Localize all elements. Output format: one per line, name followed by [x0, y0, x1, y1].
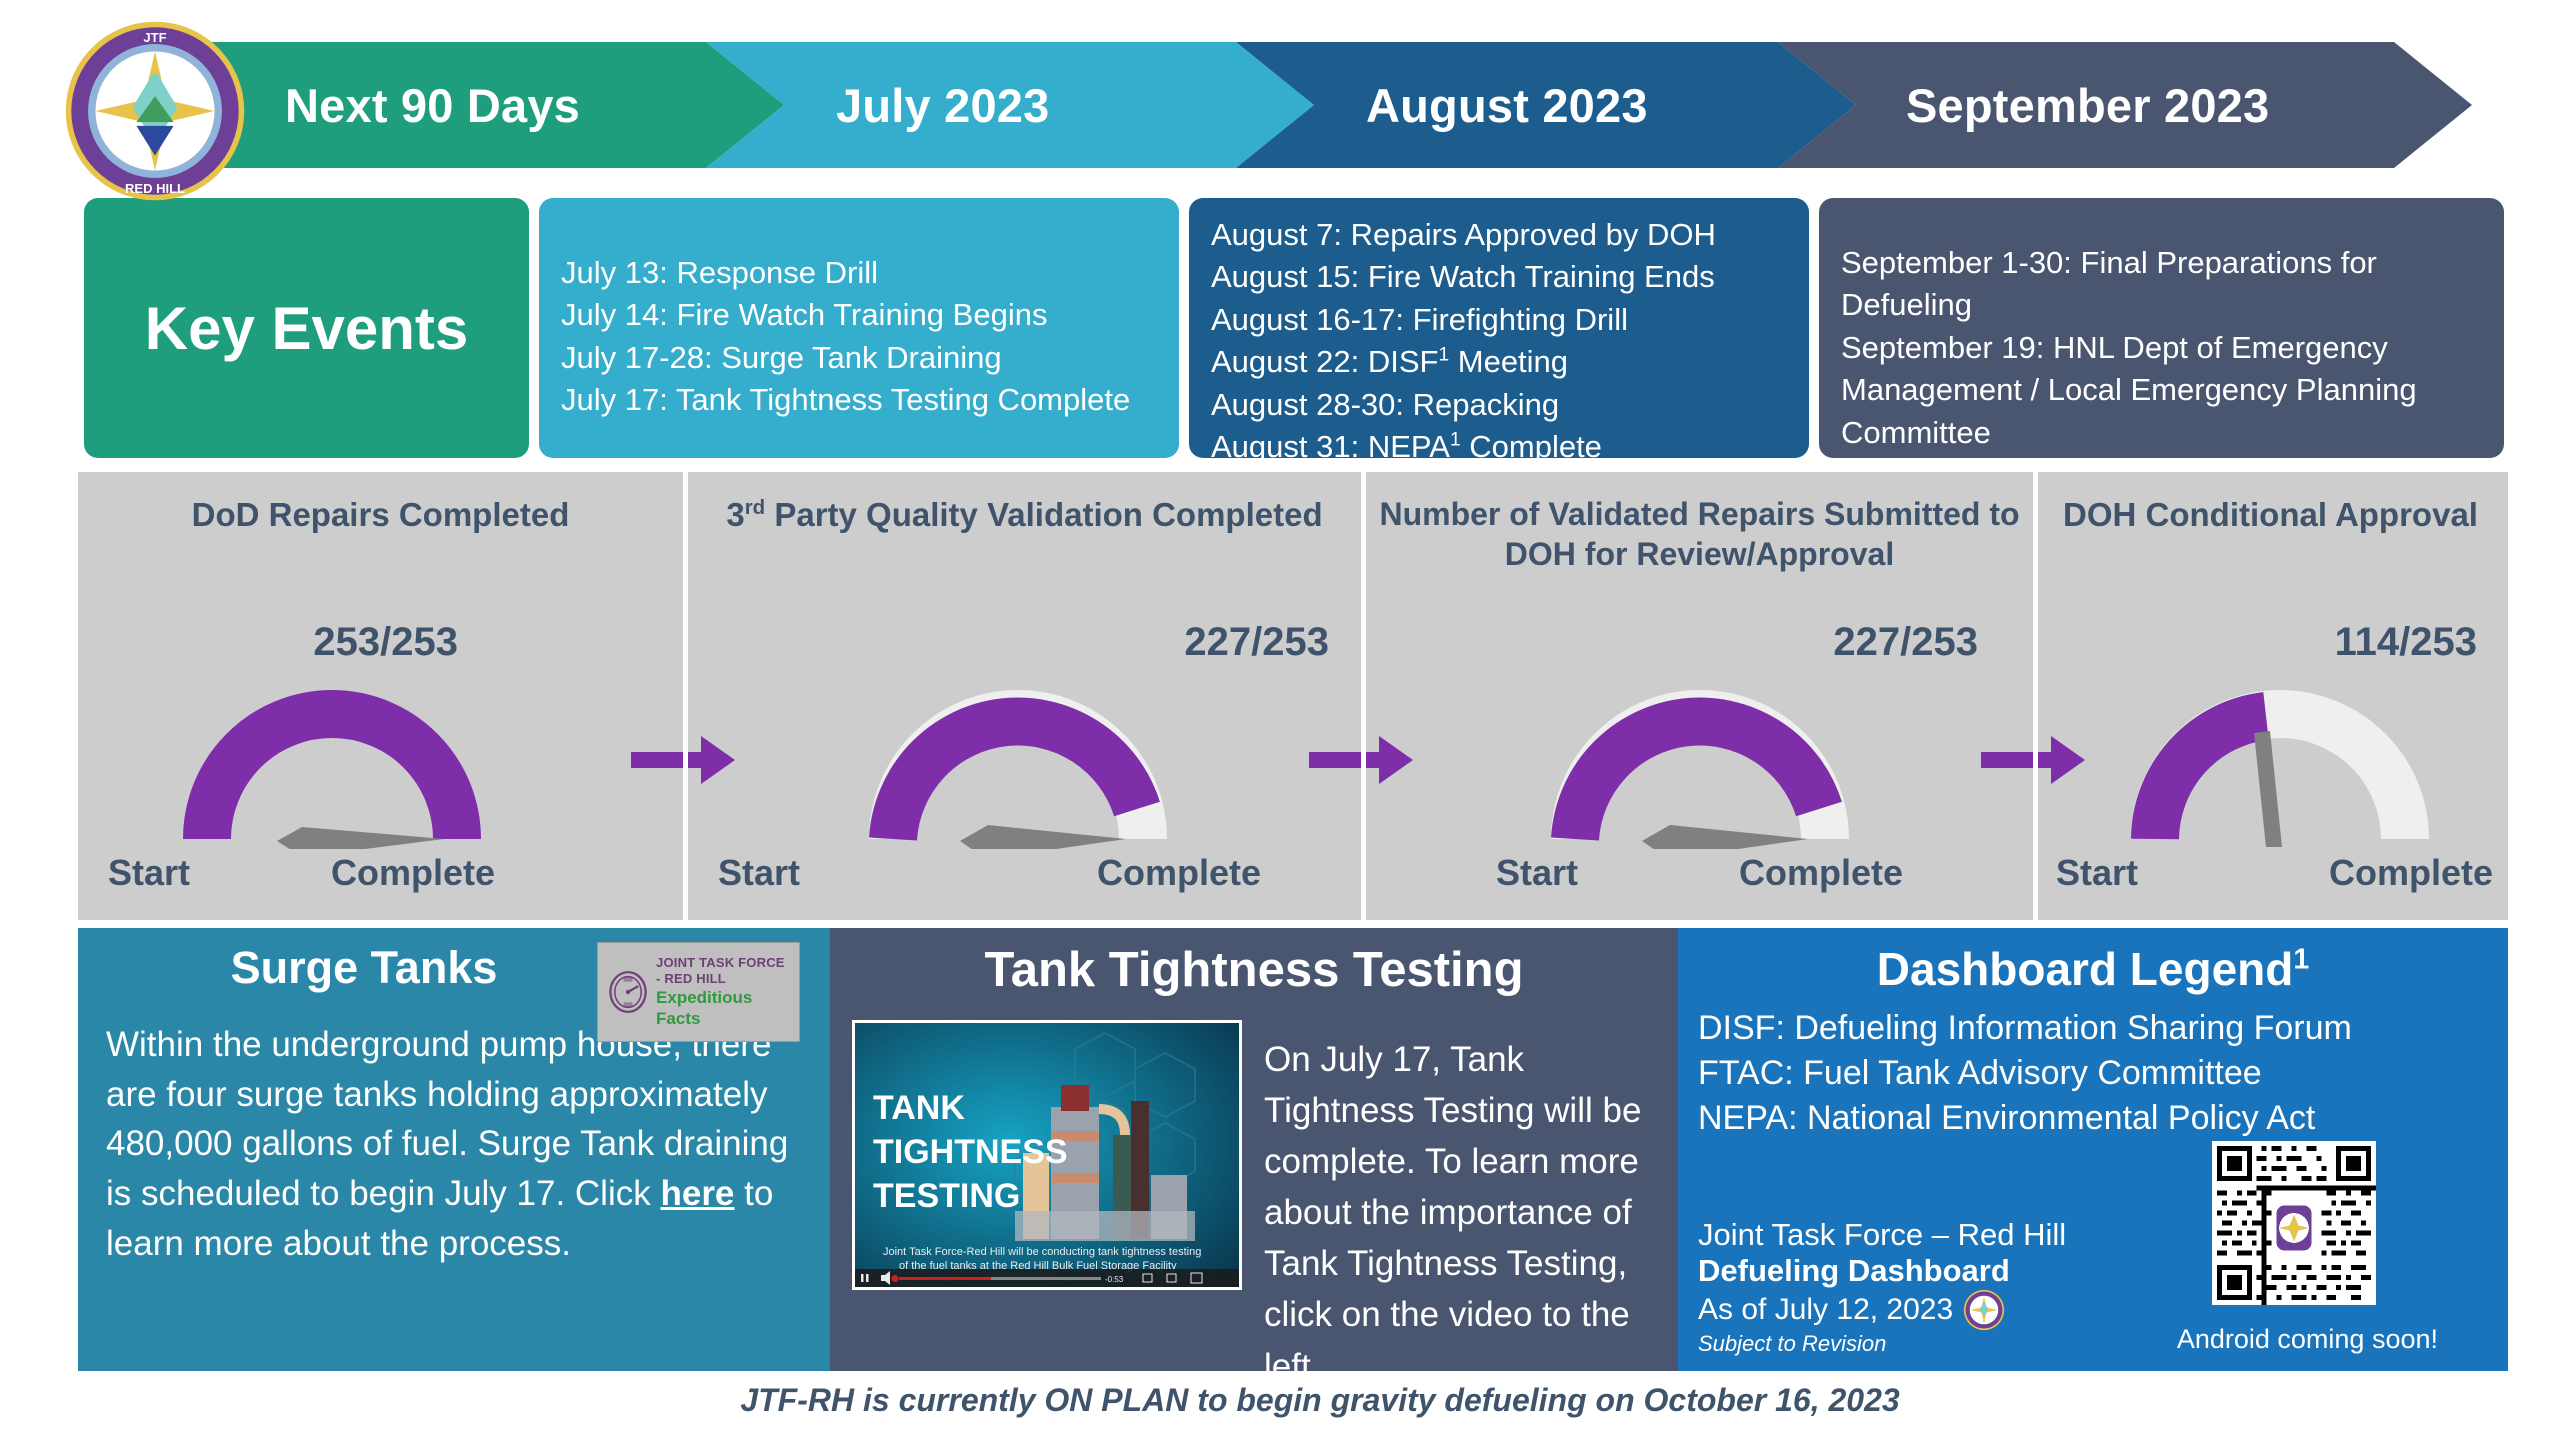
- svg-text:JTF: JTF: [143, 30, 166, 45]
- qr-label: Android coming soon!: [2177, 1324, 2438, 1355]
- list-item: NEPA: National Environmental Policy Act: [1698, 1096, 2508, 1141]
- footer-text: JTF-RH is currently ON PLAN to begin gra…: [660, 1382, 1899, 1418]
- gauge-card-dod-repairs: DoD Repairs Completed 253/253 Start Comp…: [78, 472, 683, 920]
- footer-status: JTF-RH is currently ON PLAN to begin gra…: [0, 1382, 2560, 1419]
- panel-title: Tank Tightness Testing: [830, 928, 1678, 998]
- list-item: DISF: Defueling Information Sharing Foru…: [1698, 1006, 2508, 1051]
- gauge-dial: [868, 689, 1168, 854]
- key-events-august-card: August 7: Repairs Approved by DOH August…: [1189, 198, 1809, 458]
- gauge-start-label: Start: [2056, 852, 2138, 894]
- bottom-panels: Surge Tanks JOINT TASK FORCE - RED HILL …: [78, 928, 2508, 1371]
- list-item: August 28-30: Repacking: [1211, 384, 1787, 426]
- list-item: July 17: Tank Tightness Testing Complete: [561, 379, 1157, 421]
- legend-title-superscript: 1: [2293, 944, 2309, 976]
- svg-text:TANK: TANK: [873, 1089, 965, 1127]
- legend-entries: DISF: Defueling Information Sharing Foru…: [1678, 996, 2508, 1142]
- surge-here-link[interactable]: here: [660, 1174, 734, 1213]
- timeline-chevron-august: August 2023: [1236, 42, 1856, 168]
- gauge-card-submitted-to-doh: Number of Validated Repairs Submitted to…: [1361, 472, 2033, 920]
- timeline-chevron-july: July 2023: [706, 42, 1314, 168]
- key-events-july-card: July 13: Response Drill July 14: Fire Wa…: [539, 198, 1179, 458]
- list-item: FTAC: Fuel Tank Advisory Committee: [1698, 1051, 2508, 1096]
- gauge-dial: [2130, 689, 2430, 854]
- legend-footer: Joint Task Force – Red Hill Defueling Da…: [1698, 1217, 2066, 1357]
- gauge-dial: [1550, 689, 1850, 854]
- jtf-seal-small-icon: [1963, 1289, 2005, 1331]
- gauge-title: DoD Repairs Completed: [78, 494, 683, 535]
- surge-tanks-panel: Surge Tanks JOINT TASK FORCE - RED HILL …: [78, 928, 830, 1371]
- key-events-september-card: September 1-30: Final Preparations for D…: [1819, 198, 2504, 458]
- list-item: July 17-28: Surge Tank Draining: [561, 337, 1157, 379]
- legend-as-of-row: As of July 12, 2023: [1698, 1289, 2066, 1331]
- svg-text:TIGHTNESS: TIGHTNESS: [873, 1133, 1068, 1171]
- badge-line-2: Expeditious Facts: [656, 987, 791, 1030]
- badge-line-1: JOINT TASK FORCE - RED HILL: [656, 955, 791, 988]
- gauge-card-doh-conditional-approval: DOH Conditional Approval 114/253 Start C…: [2033, 472, 2503, 920]
- expeditious-facts-badge: JOINT TASK FORCE - RED HILL Expeditious …: [597, 942, 800, 1042]
- svg-text:-0:53: -0:53: [1105, 1275, 1124, 1284]
- list-item: September 1-30: Final Preparations for D…: [1841, 242, 2482, 327]
- video-thumbnail[interactable]: TANK TIGHTNESS TESTING Joint Task Force-…: [852, 1020, 1242, 1290]
- timeline-header: Next 90 Days July 2023 August 2023 Septe…: [150, 42, 2550, 168]
- key-events-july-list: July 13: Response Drill July 14: Fire Wa…: [539, 198, 1179, 422]
- gauge-complete-label: Complete: [331, 852, 495, 894]
- gauge-row: DoD Repairs Completed 253/253 Start Comp…: [78, 472, 2508, 920]
- gauge-badge-icon: [606, 959, 650, 1025]
- gauge-complete-label: Complete: [2329, 852, 2493, 894]
- gauge-complete-label: Complete: [1097, 852, 1261, 894]
- list-item: July 14: Fire Watch Training Begins: [561, 294, 1157, 336]
- gauge-title: 3rd Party Quality Validation Completed: [688, 494, 1361, 535]
- gauge-start-label: Start: [718, 852, 800, 894]
- gauge-dial: [182, 689, 482, 854]
- legend-org: Joint Task Force – Red Hill: [1698, 1217, 2066, 1253]
- key-events-row: Key Events July 13: Response Drill July …: [84, 198, 2504, 458]
- gauge-value: 227/253: [1833, 620, 1978, 665]
- svg-text:TESTING: TESTING: [873, 1177, 1020, 1215]
- list-item: September 19: HNL Dept of Emergency Mana…: [1841, 327, 2482, 454]
- svg-text:RED HILL: RED HILL: [125, 181, 185, 196]
- tank-tightness-testing-panel: Tank Tightness Testing: [830, 928, 1678, 1371]
- ttt-body: On July 17, Tank Tightness Testing will …: [1264, 1020, 1656, 1392]
- list-item: August 15: Fire Watch Training Ends: [1211, 256, 1787, 298]
- legend-revision-note: Subject to Revision: [1698, 1331, 2066, 1357]
- gauge-value: 114/253: [2335, 620, 2477, 665]
- gauge-start-label: Start: [1496, 852, 1578, 894]
- key-events-label: Key Events: [84, 198, 529, 458]
- key-events-label-text: Key Events: [145, 294, 469, 363]
- gauge-value: 227/253: [1184, 620, 1329, 665]
- legend-dashboard-name: Defueling Dashboard: [1698, 1253, 2066, 1289]
- dashboard-page: JTF RED HILL Next 90 Days July 2023 Augu…: [0, 0, 2560, 1440]
- panel-title: Dashboard Legend1: [1678, 928, 2508, 996]
- qr-code[interactable]: [2212, 1141, 2376, 1305]
- list-item: August 22: DISF1 Meeting: [1211, 341, 1787, 383]
- gauge-title: DOH Conditional Approval: [2038, 494, 2503, 535]
- legend-as-of: As of July 12, 2023: [1698, 1293, 1953, 1327]
- timeline-chevron-september: September 2023: [1778, 42, 2472, 168]
- list-item: August 16-17: Firefighting Drill: [1211, 299, 1787, 341]
- svg-text:Joint Task Force-Red Hill will: Joint Task Force-Red Hill will be conduc…: [883, 1246, 1201, 1258]
- gauge-start-label: Start: [108, 852, 190, 894]
- gauge-value: 253/253: [313, 620, 458, 665]
- gauge-card-third-party-validation: 3rd Party Quality Validation Completed 2…: [683, 472, 1361, 920]
- key-events-september-list: September 1-30: Final Preparations for D…: [1819, 198, 2504, 454]
- key-events-august-list: August 7: Repairs Approved by DOH August…: [1189, 198, 1809, 469]
- list-item: August 7: Repairs Approved by DOH: [1211, 214, 1787, 256]
- gauge-complete-label: Complete: [1739, 852, 1903, 894]
- list-item: August 31: NEPA1 Complete: [1211, 426, 1787, 468]
- legend-title-text: Dashboard Legend: [1877, 943, 2294, 995]
- jtf-red-hill-seal-icon: JTF RED HILL: [62, 18, 248, 204]
- list-item: July 13: Response Drill: [561, 252, 1157, 294]
- dashboard-legend-panel: Dashboard Legend1 DISF: Defueling Inform…: [1678, 928, 2508, 1371]
- gauge-title: Number of Validated Repairs Submitted to…: [1366, 494, 2033, 574]
